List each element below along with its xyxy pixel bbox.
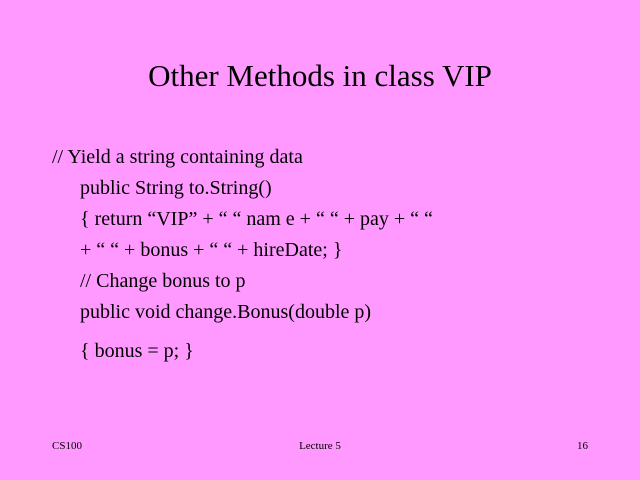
code-line: { bonus = p; }: [80, 328, 612, 367]
slide-footer: CS100 Lecture 5 16: [0, 440, 640, 454]
code-line: + “ “ + bonus + “ “ + hireDate; }: [80, 235, 612, 266]
footer-page-number: 16: [577, 440, 588, 452]
code-line: public void change.Bonus(double p): [80, 297, 612, 328]
slide-body: // Yield a string containing data public…: [52, 142, 612, 367]
code-line: { return “VIP” + “ “ nam e + “ “ + pay +…: [80, 204, 612, 235]
page-title: Other Methods in class VIP: [0, 58, 640, 94]
code-line: // Yield a string containing data: [52, 142, 612, 173]
slide: Other Methods in class VIP // Yield a st…: [0, 0, 640, 480]
code-line: // Change bonus to p: [80, 266, 612, 297]
footer-lecture-label: Lecture 5: [0, 440, 640, 452]
code-line: public String to.String(): [80, 173, 612, 204]
